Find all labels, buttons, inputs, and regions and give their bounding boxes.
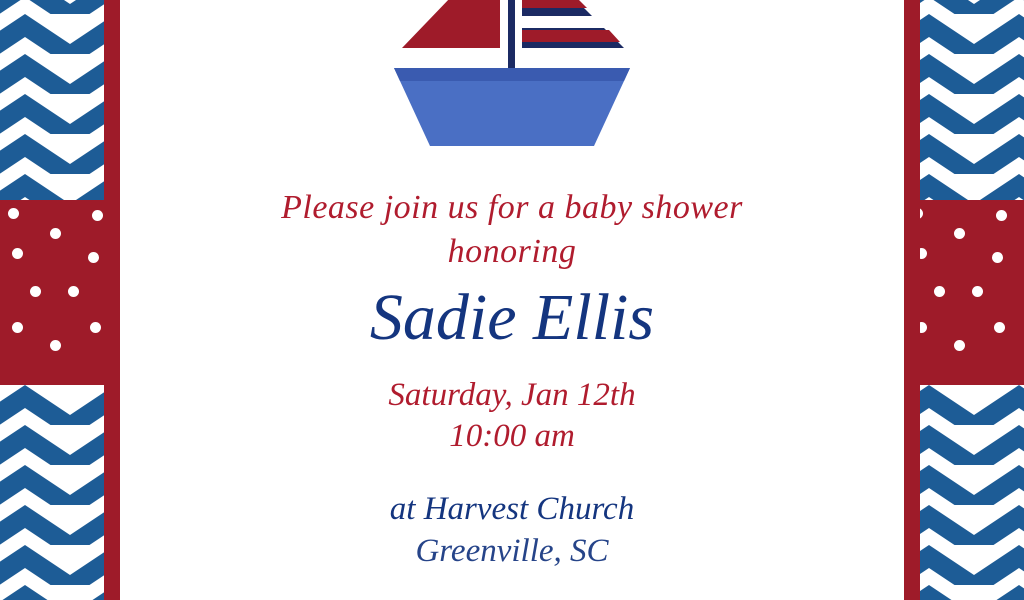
chevron-pattern-bottom-right xyxy=(904,385,1024,600)
intro-line-2: honoring xyxy=(130,230,894,274)
chevron-pattern-top-right xyxy=(904,0,1024,200)
polka-dot-block-right xyxy=(904,200,1024,385)
invitation-card: Please join us for a baby shower honorin… xyxy=(0,0,1024,600)
event-time: 10:00 am xyxy=(130,416,894,456)
venue-line-1: at Harvest Church xyxy=(130,488,894,530)
red-stripe-left xyxy=(104,0,120,600)
chevron-pattern-bottom-left xyxy=(0,385,120,600)
red-stripe-right xyxy=(904,0,920,600)
venue-line-2: Greenville, SC xyxy=(130,530,894,572)
honoree-name: Sadie Ellis xyxy=(130,280,894,356)
event-date: Saturday, Jan 12th xyxy=(130,374,894,416)
sailboat-icon xyxy=(362,0,662,166)
invitation-text: Please join us for a baby shower honorin… xyxy=(130,186,894,572)
right-decorative-band xyxy=(904,0,1024,600)
left-decorative-band xyxy=(0,0,120,600)
chevron-pattern-top-left xyxy=(0,0,120,200)
intro-line-1: Please join us for a baby shower xyxy=(130,186,894,230)
polka-dot-block-left xyxy=(0,200,120,385)
